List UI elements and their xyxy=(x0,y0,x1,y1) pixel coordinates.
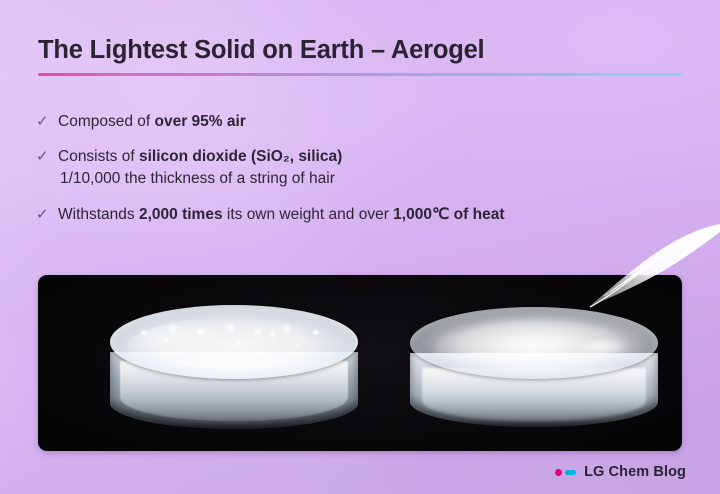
bullet-text-emphasis-2: 1,000℃ of heat xyxy=(393,206,504,223)
page-title: The Lightest Solid on Earth – Aerogel xyxy=(38,36,484,65)
bullet-text: Composed of over 95% air xyxy=(58,112,656,131)
bullet-text-emphasis: silicon dioxide (SiO₂, silica) xyxy=(139,148,342,165)
logo-dash-icon xyxy=(565,470,576,475)
bullet-subtext: 1/10,000 the thickness of a string of ha… xyxy=(60,169,656,189)
list-item: ✓ Withstands 2,000 times its own weight … xyxy=(36,205,656,224)
check-icon: ✓ xyxy=(36,150,50,164)
petri-dish-aerogel xyxy=(410,307,658,427)
aerogel-highlight xyxy=(574,338,629,355)
product-photo xyxy=(38,275,682,451)
lg-chem-blog-logo[interactable]: LG Chem Blog xyxy=(555,464,686,480)
bullet-text-plain: Composed of xyxy=(58,113,155,130)
logo-dot-icon xyxy=(555,469,562,476)
bullet-text-emphasis: 2,000 times xyxy=(139,206,223,223)
bullet-text: Withstands 2,000 times its own weight an… xyxy=(58,205,656,224)
title-divider xyxy=(38,73,682,76)
bullet-text-emphasis: over 95% air xyxy=(155,113,246,130)
bullet-text-plain: Consists of xyxy=(58,148,139,165)
check-icon: ✓ xyxy=(36,115,50,129)
bullet-list: ✓ Composed of over 95% air ✓ Consists of… xyxy=(36,112,656,224)
logo-text: LG Chem Blog xyxy=(584,464,686,480)
petri-dish-crystals xyxy=(110,305,358,429)
slide-card: The Lightest Solid on Earth – Aerogel ✓ … xyxy=(0,0,720,494)
bullet-text: Consists of silicon dioxide (SiO₂, silic… xyxy=(58,147,656,166)
list-item: ✓ Consists of silicon dioxide (SiO₂, sil… xyxy=(36,147,656,189)
bullet-text-plain: Withstands xyxy=(58,206,139,223)
list-item: ✓ Composed of over 95% air xyxy=(36,112,656,131)
crystal-crest xyxy=(132,312,335,334)
bullet-text-plain-mid: its own weight and over xyxy=(223,206,394,223)
check-icon: ✓ xyxy=(36,208,50,222)
